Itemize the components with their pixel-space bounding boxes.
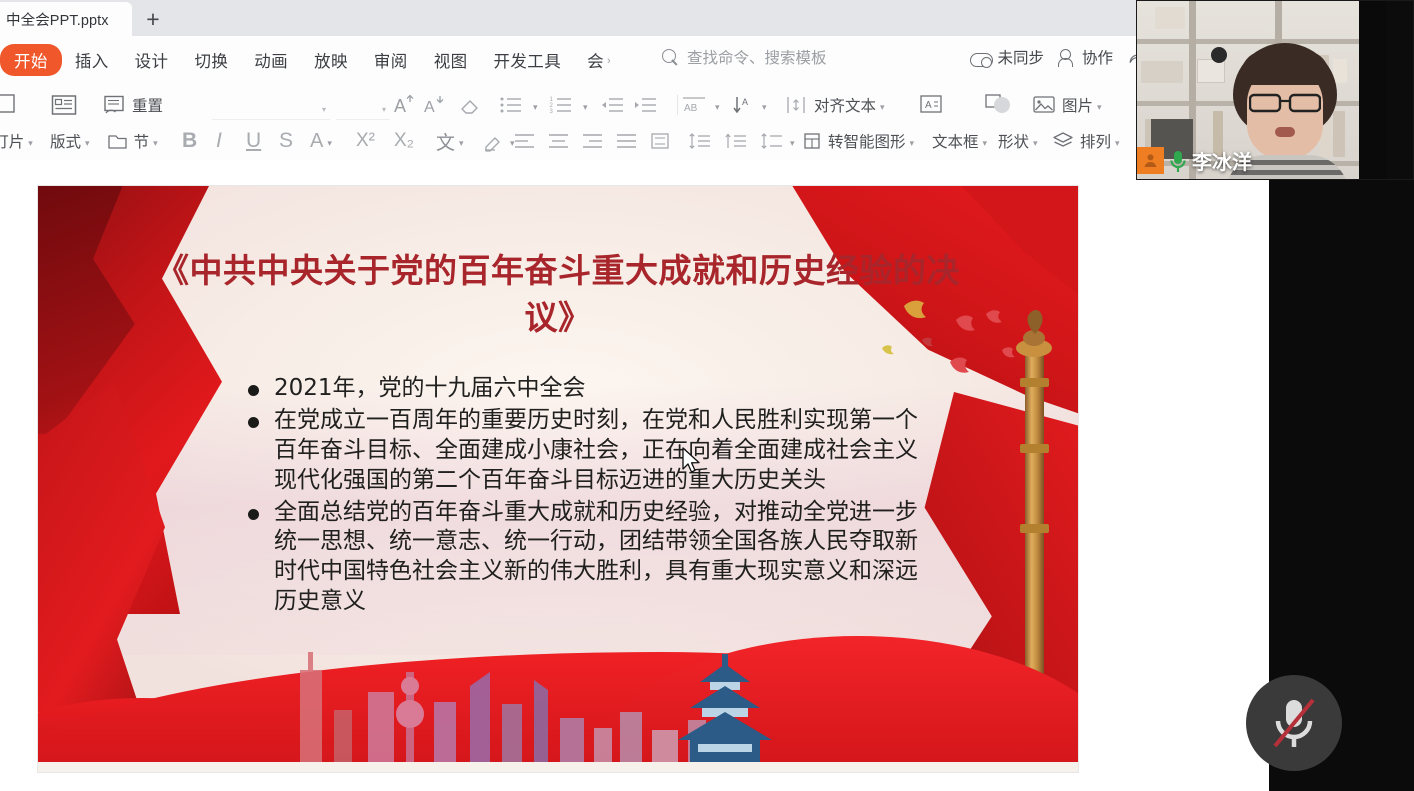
line-spacing-icon xyxy=(688,130,714,152)
search-icon xyxy=(662,49,679,66)
participant-name-tag: 李冰洋 xyxy=(1137,144,1258,177)
align-left-icon xyxy=(512,130,538,152)
align-right-button[interactable] xyxy=(580,130,606,152)
tab-kaifagongju[interactable]: 开发工具 xyxy=(481,44,575,76)
justify-icon xyxy=(614,130,640,152)
to-smartart-label: 转智能图形 xyxy=(828,130,906,152)
collaborate-label: 协作 xyxy=(1082,46,1113,68)
chevron-right-icon: › xyxy=(607,55,611,67)
paragraph-spacing-icon xyxy=(724,130,750,152)
chevron-down-icon: ▾ xyxy=(459,138,464,149)
person-glyph-icon xyxy=(1142,152,1159,169)
sort-icon: A xyxy=(732,94,758,116)
svg-text:AB: AB xyxy=(684,103,698,114)
shape-button-top[interactable] xyxy=(982,92,1016,118)
mic-muted-icon xyxy=(1265,692,1323,754)
shrink-font-icon: A xyxy=(422,93,448,117)
wps-presentation-window: 中全会PPT.pptx + 1 xyxy=(0,0,1414,791)
mouse-cursor xyxy=(681,447,701,475)
clear-format-button[interactable] xyxy=(458,93,482,117)
section-icon xyxy=(106,130,130,152)
shelf-book xyxy=(1141,61,1183,83)
reset-label: 重置 xyxy=(132,94,163,116)
svg-text:3: 3 xyxy=(550,109,554,115)
decrease-indent-icon xyxy=(599,94,627,116)
ribbon-row-bottom: 灯片 ▾ 版式 ▾ 节 ▾ B I U S A ▾ X² xyxy=(0,124,158,158)
sync-status-button[interactable]: 未同步 xyxy=(970,46,1044,68)
character-spacing-button[interactable]: AB ▾ xyxy=(681,94,720,116)
sort-button[interactable]: A ▾ xyxy=(732,94,767,116)
participant-name: 李冰洋 xyxy=(1192,146,1252,175)
numbered-list-icon: 1 2 3 xyxy=(549,94,579,116)
arrange-button[interactable]: 排列 ▾ xyxy=(1052,130,1120,152)
video-letterbox xyxy=(1359,1,1387,180)
textbox-button-top[interactable]: A xyxy=(916,92,946,118)
chevron-down-icon: ▾ xyxy=(983,138,988,149)
chevron-down-icon: ▾ xyxy=(790,138,795,149)
textbox-icon: A xyxy=(916,92,946,118)
tab-shitu[interactable]: 视图 xyxy=(421,44,481,76)
new-slide-label: 灯片 xyxy=(0,130,24,152)
tab-kaishi[interactable]: 开始 xyxy=(0,44,62,76)
underline-button[interactable]: U xyxy=(246,129,261,153)
arrange-label: 排列 xyxy=(1080,130,1111,152)
new-slide-button-top[interactable] xyxy=(0,93,28,117)
new-slide-icon xyxy=(0,93,17,117)
section-label: 节 xyxy=(134,130,150,152)
numbered-list-button[interactable]: 1 2 3 ▾ xyxy=(549,94,588,116)
slide-bottom-strip xyxy=(38,762,1078,772)
shrink-font-button[interactable]: A xyxy=(422,93,448,117)
tab-shenyue[interactable]: 审阅 xyxy=(361,44,421,76)
document-tab-label: 中全会PPT.pptx xyxy=(6,9,109,30)
chevron-down-icon: ▾ xyxy=(533,102,538,113)
chevron-down-icon: ▾ xyxy=(880,102,885,113)
align-text-button[interactable]: 对齐文本 ▾ xyxy=(784,94,885,116)
pinyin-button[interactable]: 文 ▾ xyxy=(436,128,464,155)
tab-fangying[interactable]: 放映 xyxy=(301,44,361,76)
header-actions: 未同步 协作 xyxy=(970,46,1146,68)
chevron-down-icon: ▾ xyxy=(322,105,326,114)
sync-status-label: 未同步 xyxy=(997,46,1044,68)
tab-hui[interactable]: 会 › xyxy=(574,44,624,76)
mute-toggle-button[interactable] xyxy=(1246,675,1342,771)
temple-of-heaven-decoration xyxy=(638,648,818,766)
line-height-icon xyxy=(760,130,786,152)
collaborate-button[interactable]: 协作 xyxy=(1058,46,1113,68)
pinyin-label: 文 xyxy=(436,128,455,155)
align-left-button[interactable] xyxy=(512,130,538,152)
shelf-book xyxy=(1155,7,1185,29)
arrange-icon xyxy=(1052,130,1076,152)
bullet-list-button[interactable]: ▾ xyxy=(499,94,538,116)
to-smartart-button[interactable]: 转智能图形 ▾ xyxy=(800,130,914,152)
chevron-down-icon: ▾ xyxy=(28,138,33,149)
chevron-down-icon: ▾ xyxy=(762,102,767,113)
grow-font-icon: A xyxy=(392,93,418,117)
section-button[interactable]: 节 ▾ xyxy=(106,130,158,152)
font-size-input[interactable]: ▾ xyxy=(336,96,390,120)
search-placeholder: 查找命令、搜索模板 xyxy=(687,46,827,68)
distribute-button[interactable] xyxy=(648,130,674,152)
distribute-icon xyxy=(648,130,674,152)
highlighter-icon xyxy=(482,130,506,152)
tab-hui-label: 会 xyxy=(587,48,604,72)
slide-canvas[interactable]: 《中共中央关于党的百年奋斗重大成就和历史经验的决议》 2021年，党的十九届六中… xyxy=(0,160,1414,791)
highlight-button[interactable]: ▾ xyxy=(482,130,515,152)
bullet-item: 2021年，党的十九届六中全会 xyxy=(238,374,918,404)
chevron-down-icon: ▾ xyxy=(85,138,90,149)
gold-column-decoration xyxy=(1006,294,1062,684)
picture-button[interactable]: 图片 ▾ xyxy=(1032,93,1102,117)
smartart-icon xyxy=(800,130,824,152)
chevron-down-icon: ▾ xyxy=(910,138,915,149)
picture-label: 图片 xyxy=(1062,94,1093,116)
textbox-button[interactable]: 文本框 ▾ xyxy=(932,130,987,152)
reset-icon xyxy=(102,93,128,117)
shelf-round-object xyxy=(1211,47,1227,63)
fringe xyxy=(1241,51,1329,85)
line-spacing-a-button[interactable] xyxy=(688,130,714,152)
tab-sheji[interactable]: 设计 xyxy=(122,44,182,76)
slide-layout-icon xyxy=(50,93,78,117)
mouth xyxy=(1275,127,1295,137)
chevron-down-icon: ▾ xyxy=(1097,102,1102,113)
justify-button[interactable] xyxy=(614,130,640,152)
svg-text:A: A xyxy=(424,99,435,116)
decrease-indent-button[interactable] xyxy=(599,94,627,116)
svg-text:A: A xyxy=(742,97,748,107)
cloud-sync-icon xyxy=(970,50,991,65)
svg-text:A: A xyxy=(925,100,932,111)
text-shadow-label: A xyxy=(310,130,323,153)
slide-layout-button[interactable] xyxy=(50,93,78,117)
align-text-label: 对齐文本 xyxy=(814,94,876,116)
font-name-input[interactable]: ▾ xyxy=(212,96,330,120)
chevron-down-icon: ▾ xyxy=(382,105,386,114)
chevron-down-icon: ▾ xyxy=(1115,138,1120,149)
tab-qiehuan[interactable]: 切换 xyxy=(181,44,241,76)
eraser-icon xyxy=(458,93,482,117)
slide-1[interactable]: 《中共中央关于党的百年奋斗重大成就和历史经验的决议》 2021年，党的十九届六中… xyxy=(38,186,1078,772)
document-tab[interactable]: 中全会PPT.pptx xyxy=(0,2,132,36)
align-right-icon xyxy=(580,130,606,152)
layout-label: 版式 xyxy=(50,130,81,152)
align-center-icon xyxy=(546,130,572,152)
reset-button[interactable]: 重置 xyxy=(102,93,163,117)
shape-button[interactable]: 形状 ▾ xyxy=(998,130,1038,152)
chevron-down-icon: ▾ xyxy=(583,102,588,113)
strikethrough-button[interactable]: S xyxy=(279,129,293,153)
increase-indent-icon xyxy=(632,94,660,116)
line-height-button[interactable]: ▾ xyxy=(760,130,795,152)
superscript-button[interactable]: X² xyxy=(356,130,375,152)
picture-icon xyxy=(1032,93,1058,117)
italic-button[interactable]: I xyxy=(216,129,222,153)
text-shadow-button[interactable]: A ▾ xyxy=(310,130,332,153)
paragraph-spacing-button[interactable] xyxy=(724,130,750,152)
toolbar-divider xyxy=(677,95,678,115)
subscript-button[interactable]: X₂ xyxy=(394,130,414,152)
chevron-down-icon: ▾ xyxy=(327,138,332,149)
person-add-icon xyxy=(1058,49,1076,66)
microphone-active-icon xyxy=(1168,149,1188,173)
chevron-down-icon: ▾ xyxy=(715,102,720,113)
shape-icon xyxy=(982,92,1016,118)
bullet-item: 全面总结党的百年奋斗重大成就和历史经验，对推动全党进一步统一思想、统一意志、统一… xyxy=(238,498,918,618)
search-command-box[interactable]: 查找命令、搜索模板 xyxy=(662,46,827,68)
slide-body-text[interactable]: 2021年，党的十九届六中全会 在党成立一百周年的重要历史时刻，在党和人民胜利实… xyxy=(238,374,918,619)
new-tab-button[interactable]: + xyxy=(140,6,166,32)
ribbon-row-top: 重置 ▾ ▾ A A xyxy=(0,88,163,122)
textbox-label: 文本框 xyxy=(932,130,979,152)
tab-donghua[interactable]: 动画 xyxy=(241,44,301,76)
tab-charu[interactable]: 插入 xyxy=(62,44,122,76)
character-spacing-icon: AB xyxy=(681,94,711,116)
chevron-down-icon: ▾ xyxy=(1033,138,1038,149)
svg-text:A: A xyxy=(394,96,406,116)
new-slide-button[interactable]: 灯片 ▾ xyxy=(0,130,42,152)
bullet-item: 在党成立一百周年的重要历史时刻，在党和人民胜利实现第一个百年奋斗目标、全面建成小… xyxy=(238,406,918,496)
participant-video-tile[interactable]: 李冰洋 xyxy=(1136,0,1414,180)
chevron-down-icon: ▾ xyxy=(153,138,158,149)
bullet-list-icon xyxy=(499,94,529,116)
increase-indent-button[interactable] xyxy=(632,94,660,116)
slide-title-text[interactable]: 《中共中央关于党的百年奋斗重大成就和历史经验的决议》 xyxy=(148,248,968,342)
shape-label: 形状 xyxy=(998,130,1029,152)
align-text-icon xyxy=(784,94,810,116)
glasses-icon xyxy=(1249,93,1321,113)
avatar-badge-icon xyxy=(1137,147,1164,174)
bold-button[interactable]: B xyxy=(182,129,197,153)
align-center-button[interactable] xyxy=(546,130,572,152)
layout-button[interactable]: 版式 ▾ xyxy=(50,130,90,152)
grow-font-button[interactable]: A xyxy=(392,93,418,117)
